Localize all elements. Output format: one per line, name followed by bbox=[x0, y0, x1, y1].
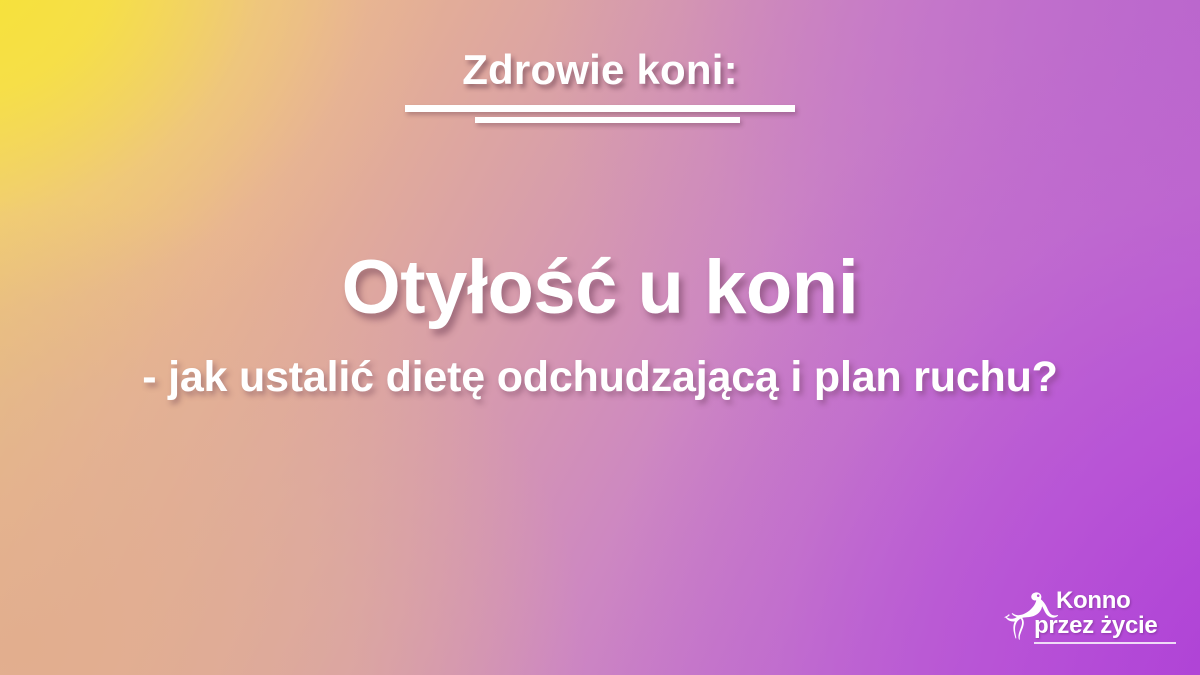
brand-name-line-1: Konno bbox=[1056, 588, 1180, 613]
kicker-container: Zdrowie koni: bbox=[0, 48, 1200, 92]
kicker-text: Zdrowie koni: bbox=[462, 48, 738, 92]
page-title: Otyłość u koni bbox=[0, 248, 1200, 328]
brand-logo-text: Konno przez życie bbox=[1056, 588, 1180, 638]
brand-name-line-2: przez życie bbox=[1034, 613, 1180, 638]
promo-banner: Zdrowie koni: Otyłość u koni - jak ustal… bbox=[0, 0, 1200, 675]
brand-logo[interactable]: Konno przez życie bbox=[1000, 588, 1178, 650]
kicker-underline-secondary bbox=[475, 117, 740, 123]
kicker-underline-primary bbox=[405, 105, 795, 112]
brand-logo-underline bbox=[1034, 642, 1176, 644]
page-subtitle: - jak ustalić dietę odchudzającą i plan … bbox=[0, 354, 1200, 401]
